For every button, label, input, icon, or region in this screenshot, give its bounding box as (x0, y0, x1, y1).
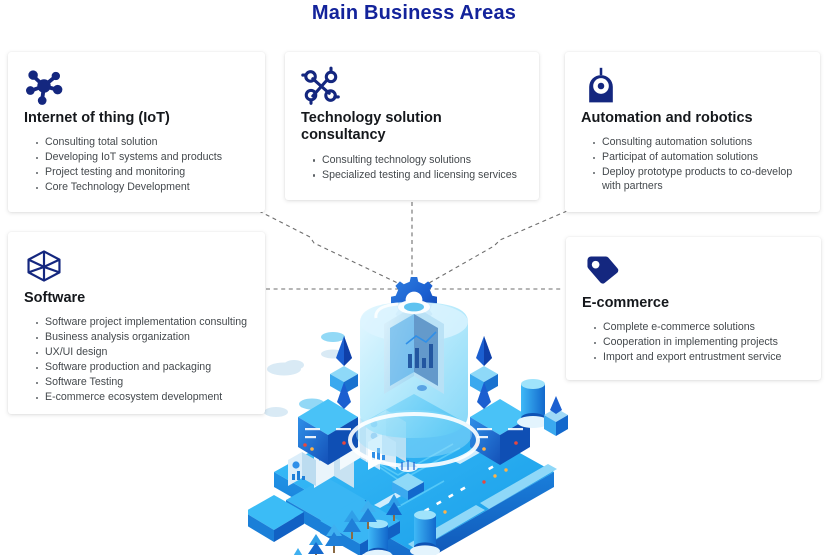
card-title: Automation and robotics (581, 110, 804, 127)
card-title: Technology solution consultancy (301, 110, 523, 145)
card-bullet-list: Consulting automation solutions Particip… (581, 136, 804, 193)
card-title: E-commerce (582, 295, 805, 312)
card-software[interactable]: Software Software project implementation… (8, 232, 265, 414)
circuit-nodes-icon (301, 64, 341, 108)
card-bullet-list: Complete e-commerce solutions Cooperatio… (582, 321, 805, 364)
list-item: Complete e-commerce solutions (594, 321, 805, 334)
list-item: Cooperation in implementing projects (594, 336, 805, 349)
list-item: Consulting total solution (36, 136, 249, 149)
list-item: Project testing and monitoring (36, 166, 249, 179)
card-title: Internet of thing (IoT) (24, 110, 249, 127)
list-item: Deploy prototype products to co-develop … (593, 166, 804, 193)
price-tag-icon (582, 249, 622, 293)
card-automation-and-robotics[interactable]: Automation and robotics Consulting autom… (565, 52, 820, 212)
list-item: Business analysis organization (36, 331, 249, 344)
card-internet-of-things[interactable]: Internet of thing (IoT) Consulting total… (8, 52, 265, 212)
card-technology-solution-consultancy[interactable]: Technology solution consultancy Consulti… (285, 52, 539, 200)
network-hub-icon (24, 64, 64, 108)
list-item: Specialized testing and licensing servic… (313, 169, 523, 182)
page-title: Main Business Areas (0, 2, 828, 25)
list-item: Participat of automation solutions (593, 151, 804, 164)
list-item: Core Technology Development (36, 181, 249, 194)
list-item: Software Testing (36, 376, 249, 389)
list-item: Consulting automation solutions (593, 136, 804, 149)
wireframe-cube-icon (24, 244, 64, 288)
card-bullet-list: Software project implementation consulti… (24, 316, 249, 404)
card-bullet-list: Consulting total solution Developing IoT… (24, 136, 249, 194)
robot-head-icon (581, 64, 621, 108)
list-item: UX/UI design (36, 346, 249, 359)
list-item: Software production and packaging (36, 361, 249, 374)
list-item: Developing IoT systems and products (36, 151, 249, 164)
list-item: Software project implementation consulti… (36, 316, 249, 329)
list-item: E-commerce ecosystem development (36, 391, 249, 404)
list-item: Import and export entrustment service (594, 351, 805, 364)
card-bullet-list: Consulting technology solutions Speciali… (301, 154, 523, 182)
list-item: Consulting technology solutions (313, 154, 523, 167)
card-title: Software (24, 290, 249, 307)
card-ecommerce[interactable]: E-commerce Complete e-commerce solutions… (566, 237, 821, 380)
isometric-tech-platform-illustration (248, 262, 578, 555)
